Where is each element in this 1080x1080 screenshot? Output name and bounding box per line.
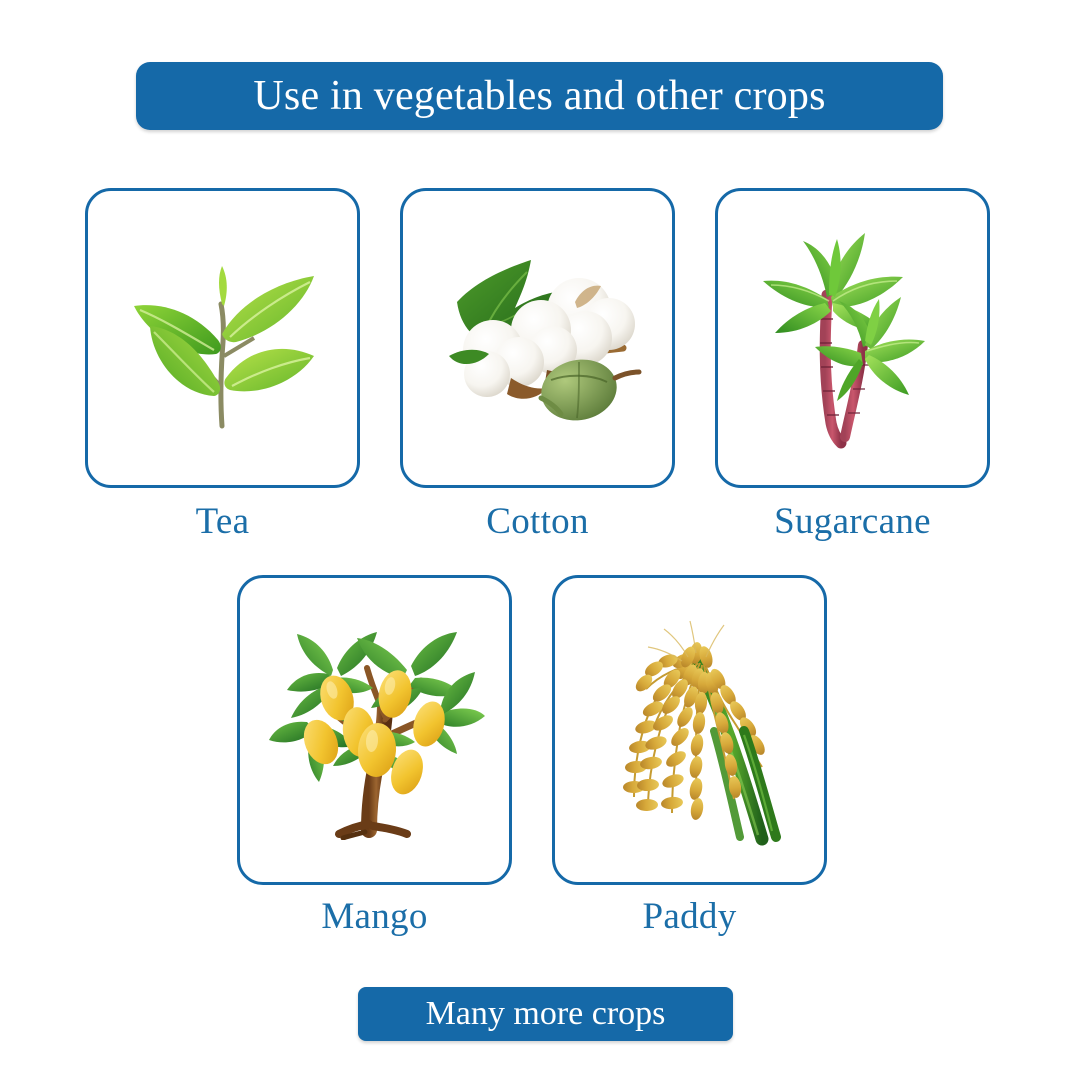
sugarcane-icon: [753, 223, 953, 453]
header-banner: Use in vegetables and other crops: [136, 62, 943, 130]
crop-card-sugarcane[interactable]: [715, 188, 990, 488]
crop-card-cotton[interactable]: [400, 188, 675, 488]
crop-cell-sugarcane: Sugarcane: [715, 188, 990, 543]
crop-label-paddy: Paddy: [643, 897, 737, 938]
tea-leaves-icon: [118, 238, 328, 438]
header-title: Use in vegetables and other crops: [253, 72, 825, 120]
crop-card-paddy[interactable]: [552, 575, 827, 885]
crop-label-tea: Tea: [196, 502, 250, 543]
crop-card-tea[interactable]: [85, 188, 360, 488]
crop-label-mango: Mango: [321, 897, 427, 938]
crop-cell-tea: Tea: [85, 188, 360, 543]
crop-cell-cotton: Cotton: [400, 188, 675, 543]
crop-card-mango[interactable]: [237, 575, 512, 885]
crop-row-1: Tea: [85, 188, 990, 543]
footer-title: Many more crops: [426, 995, 666, 1033]
footer-banner: Many more crops: [358, 987, 733, 1041]
crop-row-2: Mango: [237, 575, 827, 938]
crop-cell-mango: Mango: [237, 575, 512, 938]
crop-cell-paddy: Paddy: [552, 575, 827, 938]
crop-label-sugarcane: Sugarcane: [774, 502, 931, 543]
paddy-rice-icon: [590, 613, 790, 848]
cotton-boll-icon: [427, 238, 649, 438]
crop-label-cotton: Cotton: [486, 502, 589, 543]
mango-tree-icon: [265, 620, 485, 840]
